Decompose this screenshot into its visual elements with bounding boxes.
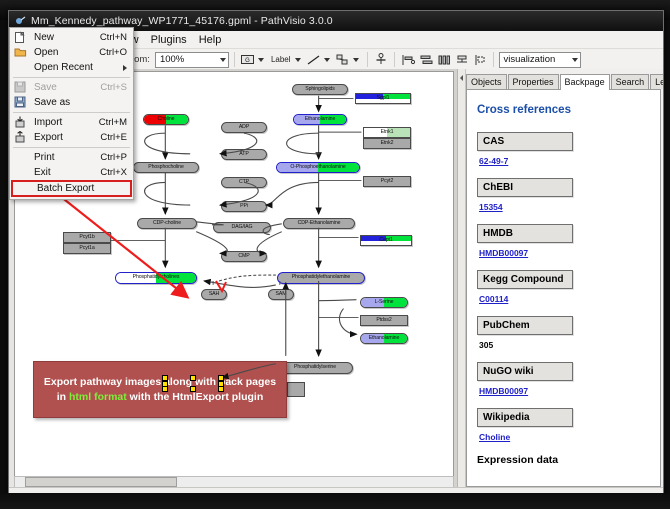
file-menu-item-label: Print	[34, 152, 55, 163]
chevron-down-icon	[572, 58, 578, 62]
file-menu-item-label: Import	[34, 117, 62, 128]
new-file-icon	[14, 31, 28, 45]
xref-source-chebi: ChEBI	[477, 178, 573, 197]
metabolite-node-atp[interactable]: ATP	[221, 149, 267, 160]
metabolite-node-phosphatidylserine[interactable]: Phosphatidylserine	[277, 362, 353, 374]
xref-source-nugo-wiki: NuGO wiki	[477, 362, 573, 381]
node-label: Sgpl1	[377, 96, 390, 101]
zoom-value: 100%	[160, 54, 184, 65]
node-label: CDP-choline	[153, 221, 181, 226]
file-menu-item-label: Open	[34, 47, 58, 58]
node-label: Cept1	[379, 238, 392, 243]
node-label: Phosphatidylserine	[294, 365, 336, 370]
xref-value-chebi[interactable]: 15354	[479, 202, 660, 212]
window-title: Mm_Kennedy_pathway_WP1771_45176.gpml - P…	[31, 15, 333, 27]
node-label: O-Phosphoethanolamine	[290, 165, 345, 170]
file-menu-item-label: Save	[34, 82, 57, 93]
node-label: Phosphatidylethanolamine	[292, 275, 350, 280]
open-folder-icon	[14, 46, 28, 60]
xref-link-kegg-compound[interactable]: C00114	[479, 294, 508, 304]
xref-source-wikipedia: Wikipedia	[477, 408, 573, 427]
scrollbar-thumb[interactable]	[25, 477, 177, 487]
file-menu-item-save-as[interactable]: Save as	[10, 95, 133, 110]
node-label: ADP	[239, 125, 249, 130]
metabolite-node-adp[interactable]: ADP	[221, 122, 267, 133]
node-label: Ethanolamine	[305, 117, 336, 122]
expression-data-heading: Expression data	[477, 454, 660, 466]
metabolite-node-sam[interactable]: SAM	[268, 289, 294, 300]
file-menu-item-print[interactable]: PrintCtrl+P	[10, 150, 133, 165]
node-label: Pcyt2	[381, 179, 393, 184]
xref-source-pubchem: PubChem	[477, 316, 573, 335]
callout-anchor-box	[287, 382, 305, 397]
panel-collapse-handle[interactable]	[458, 69, 466, 487]
metabolite-node-l-serine[interactable]: L-Serine	[360, 297, 408, 308]
node-label: Etnk2	[381, 141, 394, 146]
file-menu-separator	[13, 77, 130, 78]
cross-references-list: CAS62-49-7ChEBI15354HMDBHMDB00097Kegg Co…	[477, 132, 660, 442]
node-label: PPi	[240, 204, 248, 209]
file-menu-item-label: Open Recent	[34, 62, 93, 73]
label-dropdown-icon[interactable]	[295, 58, 301, 62]
node-label: L-Serine	[375, 300, 394, 305]
align-left-icon[interactable]	[400, 52, 416, 68]
status-bar: | Gene database: ...m_Derby_20120602.bri…	[9, 487, 663, 503]
xref-value-pubchem: 305	[479, 340, 660, 350]
gene-node-cept1[interactable]: Cept1	[360, 235, 412, 246]
node-label: Ptdss2	[376, 318, 391, 323]
file-menu-item-label: Batch Export	[37, 183, 94, 194]
node-label: Choline	[158, 117, 175, 122]
line-dropdown-icon[interactable]	[324, 58, 330, 62]
metabolite-node-sphingolipids[interactable]: Sphingolipids	[292, 84, 348, 95]
side-panel: Objects Properties Backpage Search Legen…	[457, 69, 663, 503]
tab-objects[interactable]: Objects	[466, 74, 507, 89]
metabolite-node-ppi[interactable]: PPi	[221, 201, 267, 212]
metabolite-node-ethanolamine[interactable]: Ethanolamine	[360, 333, 408, 344]
xref-value-nugo-wiki[interactable]: HMDB00097	[479, 386, 660, 396]
node-label: Phosphocholine	[148, 165, 184, 170]
xref-value-wikipedia[interactable]: Choline	[479, 432, 660, 442]
node-label: CDP-Ethanolamine	[298, 221, 341, 226]
file-menu-item-label: Export	[34, 132, 63, 143]
pathvisio-icon	[15, 16, 26, 27]
node-label: SAM	[276, 292, 287, 297]
file-menu-item-batch-export[interactable]: Batch Export	[11, 180, 132, 197]
tab-properties[interactable]: Properties	[508, 74, 559, 89]
file-menu-popup[interactable]: NewCtrl+NOpenCtrl+OOpen RecentSaveCtrl+S…	[9, 27, 134, 200]
gene-node-pcyt1b[interactable]: Pcyt1b	[63, 232, 111, 243]
xref-link-chebi[interactable]: 15354	[479, 202, 503, 212]
group-icon[interactable]	[472, 52, 488, 68]
xref-value-cas[interactable]: 62-49-7	[479, 156, 660, 166]
align-middle-icon[interactable]	[436, 52, 452, 68]
save-icon	[14, 81, 28, 95]
file-menu-item-label: Exit	[34, 167, 51, 178]
datanode-icon[interactable]: G	[240, 52, 256, 68]
node-label: CTP	[239, 180, 249, 185]
metabolite-node-dag-iag[interactable]: DAG/IAG	[213, 222, 271, 233]
node-label: Phosphatidylcholines	[133, 275, 180, 280]
xref-value-hmdb[interactable]: HMDB00097	[479, 248, 660, 258]
xref-source-kegg-compound: Kegg Compound	[477, 270, 573, 289]
xref-link-hmdb[interactable]: HMDB00097	[479, 248, 528, 258]
toolbar-separator	[394, 52, 395, 67]
metabolite-node-ethanolamine[interactable]: Ethanolamine	[293, 114, 347, 125]
gene-node-pcyt2[interactable]: Pcyt2	[363, 176, 411, 187]
interaction-dropdown-icon[interactable]	[353, 58, 359, 62]
interaction-icon[interactable]	[335, 52, 351, 68]
gene-node-ptdss2[interactable]: Ptdss2	[360, 315, 408, 326]
file-menu-item-shortcut: Ctrl+P	[100, 152, 127, 163]
callout-text-after: with the HtmlExport plugin	[127, 391, 264, 403]
anchor-icon[interactable]	[373, 52, 389, 68]
tab-search[interactable]: Search	[611, 74, 650, 89]
metabolite-node-sah[interactable]: SAH	[201, 289, 227, 300]
metabolite-node-phosphatidylethanolamine[interactable]: Phosphatidylethanolamine	[277, 272, 365, 284]
toolbar-separator	[367, 52, 368, 67]
import-icon	[14, 116, 28, 130]
zoom-combobox[interactable]: 100%	[155, 52, 229, 68]
metabolite-node-phosphatidylcholines[interactable]: Phosphatidylcholines	[115, 272, 197, 284]
node-label: SAH	[209, 292, 219, 297]
node-label: Pcyt1b	[79, 235, 94, 240]
xref-source-cas: CAS	[477, 132, 573, 151]
xref-link-wikipedia[interactable]: Choline	[479, 432, 510, 442]
save-as-icon	[14, 96, 28, 110]
metabolite-node-cmp[interactable]: CMP	[221, 251, 267, 262]
file-menu-item-save: SaveCtrl+S	[10, 80, 133, 95]
file-menu-item-shortcut: Ctrl+E	[100, 132, 127, 143]
metabolite-node-choline[interactable]: Choline	[143, 114, 189, 125]
file-menu-item-open-recent[interactable]: Open Recent	[10, 60, 133, 75]
node-label: Sphingolipids	[305, 87, 335, 92]
label-button[interactable]: Label	[269, 55, 293, 64]
menu-help[interactable]: Help	[193, 32, 228, 48]
annotation-callout: Export pathway images along with back pa…	[33, 361, 287, 418]
gene-node-sgpl1[interactable]: Sgpl1	[355, 93, 411, 104]
chevron-down-icon	[220, 58, 226, 62]
callout-text: Export pathway images along with back pa…	[42, 375, 278, 405]
file-menu-item-open[interactable]: OpenCtrl+O	[10, 45, 133, 60]
toolbar-separator	[234, 52, 235, 67]
status-text: | Gene database: ...m_Derby_20120602.bri…	[15, 491, 520, 501]
visualization-value: visualization	[504, 54, 556, 65]
metabolite-node-cdp-ethanolamine[interactable]: CDP-Ethanolamine	[283, 218, 355, 229]
line-icon[interactable]	[306, 52, 322, 68]
xref-source-hmdb: HMDB	[477, 224, 573, 243]
node-label: ATP	[239, 152, 248, 157]
export-icon	[14, 131, 28, 145]
node-label: DAG/IAG	[232, 225, 253, 230]
file-menu-separator	[13, 112, 130, 113]
file-menu-item-label: Save as	[34, 97, 70, 108]
file-menu-item-export[interactable]: ExportCtrl+E	[10, 130, 133, 145]
stack-icon[interactable]	[454, 52, 470, 68]
metabolite-node-o-phosphoethanolamine[interactable]: O-Phosphoethanolamine	[276, 162, 360, 173]
xref-value-kegg-compound[interactable]: C00114	[479, 294, 660, 304]
align-center-icon[interactable]	[418, 52, 434, 68]
metabolite-node-ctp[interactable]: CTP	[221, 177, 267, 188]
file-menu-separator	[13, 147, 130, 148]
node-label: Ethanolamine	[369, 336, 400, 341]
svg-text:G: G	[246, 58, 251, 64]
file-menu-item-shortcut: Ctrl+O	[99, 47, 127, 58]
node-label: Pcyt1a	[79, 246, 94, 251]
tab-backpage[interactable]: Backpage	[560, 74, 610, 90]
file-menu-item-shortcut: Ctrl+N	[100, 32, 127, 43]
tab-legend[interactable]: Legend	[650, 74, 664, 89]
gene-node-etnk1[interactable]: Etnk1	[363, 127, 411, 138]
menu-plugins[interactable]: Plugins	[145, 32, 193, 48]
metabolite-node-phosphocholine[interactable]: Phosphocholine	[133, 162, 199, 173]
file-menu-item-import[interactable]: ImportCtrl+M	[10, 115, 133, 130]
file-menu-item-exit[interactable]: ExitCtrl+X	[10, 165, 133, 180]
file-menu-item-new[interactable]: NewCtrl+N	[10, 30, 133, 45]
file-menu-item-shortcut: Ctrl+S	[100, 82, 127, 93]
cross-references-heading: Cross references	[477, 104, 660, 116]
xref-link-cas[interactable]: 62-49-7	[479, 156, 508, 166]
file-menu-item-shortcut: Ctrl+M	[99, 117, 127, 128]
file-menu-item-label: New	[34, 32, 54, 43]
backpage-content: Cross references CAS62-49-7ChEBI15354HMD…	[466, 89, 661, 487]
xref-link-nugo-wiki[interactable]: HMDB00097	[479, 386, 528, 396]
selection-handles[interactable]	[162, 375, 224, 392]
callout-highlight: html format	[69, 391, 127, 403]
side-panel-tabs: Objects Properties Backpage Search Legen…	[466, 73, 661, 90]
gene-node-etnk2[interactable]: Etnk2	[363, 138, 411, 149]
metabolite-node-cdp-choline[interactable]: CDP-choline	[137, 218, 197, 229]
node-label: CMP	[238, 254, 249, 259]
chevron-right-icon	[123, 65, 127, 71]
file-menu-item-shortcut: Ctrl+X	[100, 167, 127, 178]
desktop-background: Mm_Kennedy_pathway_WP1771_45176.gpml - P…	[0, 0, 670, 509]
visualization-combobox[interactable]: visualization	[499, 52, 581, 68]
toolbar-separator	[493, 52, 494, 67]
node-label: Etnk1	[381, 130, 394, 135]
gene-node-pcyt1a[interactable]: Pcyt1a	[63, 243, 111, 254]
datanode-dropdown-icon[interactable]	[258, 58, 264, 62]
pathvisio-window: Mm_Kennedy_pathway_WP1771_45176.gpml - P…	[8, 10, 664, 504]
